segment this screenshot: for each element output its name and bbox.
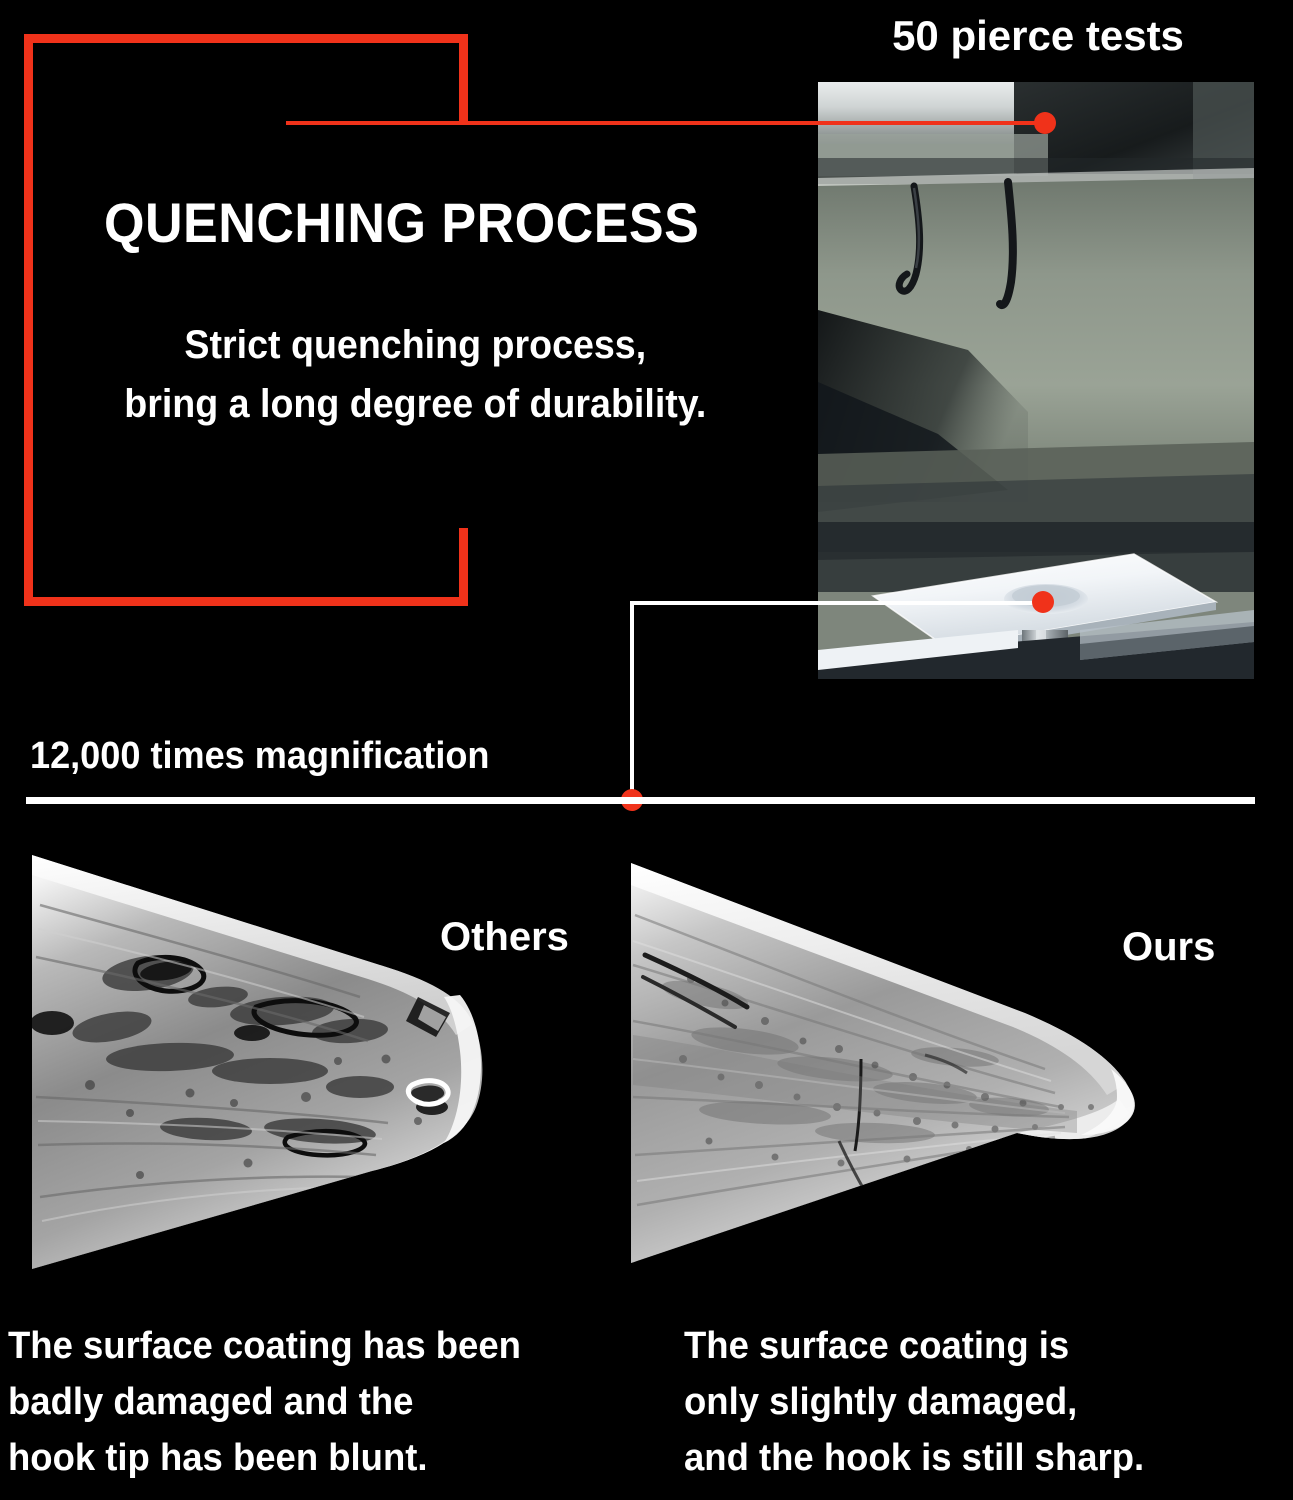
- infographic-page: QUENCHING PROCESS Strict quenching proce…: [0, 0, 1293, 1500]
- connector-white-vertical: [630, 601, 634, 803]
- caption-others: The surface coating has been badly damag…: [8, 1318, 661, 1487]
- frame-right-upper: [459, 34, 468, 124]
- caption-others-line-3: hook tip has been blunt.: [8, 1430, 661, 1486]
- caption-others-line-1: The surface coating has been: [8, 1318, 661, 1374]
- frame-left-edge: [24, 34, 33, 606]
- magnification-label: 12,000 times magnification: [30, 735, 489, 778]
- caption-ours-line-2: only slightly damaged,: [684, 1374, 1270, 1430]
- sem-image-ours: [625, 845, 1170, 1280]
- caption-others-line-2: badly damaged and the: [8, 1374, 661, 1430]
- subtitle-line-1: Strict quenching process,: [44, 316, 787, 375]
- sem-ours-svg: [625, 845, 1170, 1280]
- comparison-tag-ours: Ours: [1122, 925, 1215, 970]
- sem-image-others: [20, 845, 540, 1280]
- page-subtitle: Strict quenching process, bring a long d…: [44, 316, 787, 434]
- subtitle-line-2: bring a long degree of durability.: [44, 375, 787, 434]
- connector-white-horizontal: [630, 601, 1044, 605]
- page-title: QUENCHING PROCESS: [104, 194, 774, 253]
- connector-red-line: [286, 121, 1046, 125]
- frame-top-edge: [24, 34, 468, 43]
- pierce-test-photo-svg: [818, 82, 1254, 679]
- caption-ours-line-1: The surface coating is: [684, 1318, 1270, 1374]
- pierce-test-photo: [818, 82, 1254, 679]
- connector-red-dot-plate: [1032, 591, 1054, 613]
- sem-others-svg: [20, 845, 540, 1280]
- comparison-tag-others: Others: [440, 915, 569, 960]
- frame-bottom-edge: [24, 597, 468, 606]
- caption-ours-line-3: and the hook is still sharp.: [684, 1430, 1270, 1486]
- pierce-test-label: 50 pierce tests: [818, 12, 1258, 60]
- connector-red-dot-photo: [1034, 112, 1056, 134]
- section-divider: [26, 797, 1255, 804]
- frame-right-lower: [459, 528, 468, 606]
- caption-ours: The surface coating is only slightly dam…: [684, 1318, 1270, 1487]
